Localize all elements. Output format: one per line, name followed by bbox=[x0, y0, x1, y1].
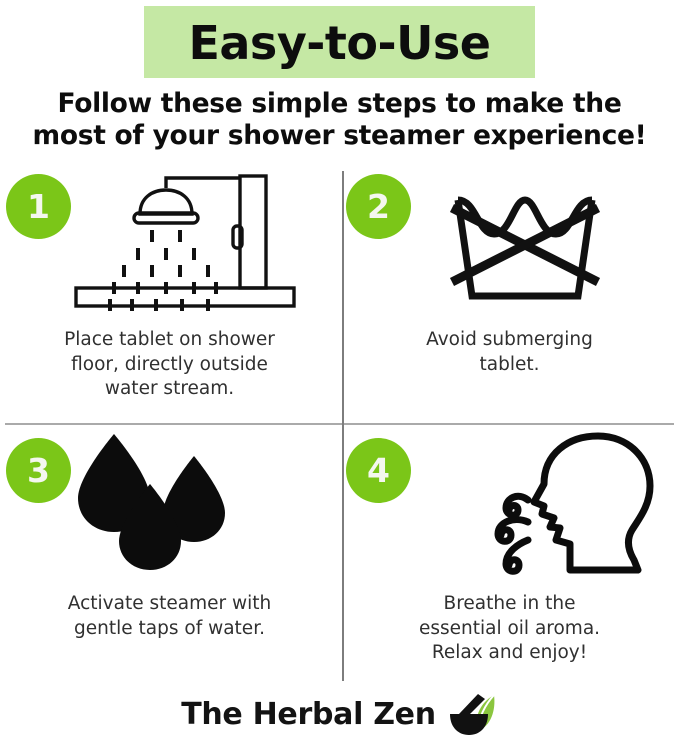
step-caption-3-line-2: gentle taps of water. bbox=[10, 617, 329, 642]
step-card-2: 2 Avoid submerging bbox=[340, 160, 679, 422]
step-card-4: 4 Breathe in the essential oil aroma. bbox=[340, 424, 679, 686]
step-caption-3: Activate steamer with gentle taps of wat… bbox=[10, 592, 329, 641]
step-number-badge-4: 4 bbox=[346, 438, 411, 503]
step-caption-3-line-1: Activate steamer with bbox=[10, 592, 329, 617]
step-caption-2-line-2: tablet. bbox=[350, 353, 669, 378]
step-caption-1: Place tablet on shower floor, directly o… bbox=[10, 328, 329, 402]
step-caption-2: Avoid submerging tablet. bbox=[350, 328, 669, 377]
subtitle-line-1: Follow these simple steps to make the bbox=[14, 88, 665, 120]
shower-icon bbox=[70, 164, 332, 324]
subtitle: Follow these simple steps to make the mo… bbox=[0, 88, 679, 153]
step-caption-4-line-3: Relax and enjoy! bbox=[350, 641, 669, 666]
subtitle-line-2: most of your shower steamer experience! bbox=[14, 120, 665, 152]
title-container: Easy-to-Use bbox=[0, 0, 679, 78]
step-number-badge-3: 3 bbox=[6, 438, 71, 503]
step-caption-4-line-1: Breathe in the bbox=[350, 592, 669, 617]
step-caption-2-line-1: Avoid submerging bbox=[350, 328, 669, 353]
header: Easy-to-Use Follow these simple steps to… bbox=[0, 0, 679, 153]
water-droplets-icon bbox=[70, 428, 332, 588]
easy-to-use-infographic: Easy-to-Use Follow these simple steps to… bbox=[0, 0, 679, 748]
step-caption-1-line-1: Place tablet on shower bbox=[10, 328, 329, 353]
step-caption-1-line-3: water stream. bbox=[10, 377, 329, 402]
step-caption-4: Breathe in the essential oil aroma. Rela… bbox=[350, 592, 669, 666]
step-number-badge-2: 2 bbox=[346, 174, 411, 239]
breathing-head-icon bbox=[410, 428, 672, 588]
footer-logo: The Herbal Zen bbox=[0, 692, 679, 736]
steps-grid: 1 bbox=[0, 160, 679, 685]
brand-name: The Herbal Zen bbox=[181, 697, 436, 732]
no-submerge-basin-icon bbox=[410, 164, 672, 324]
step-card-3: 3 Activate steamer with gentle taps of w… bbox=[0, 424, 339, 686]
step-card-1: 1 bbox=[0, 160, 339, 422]
page-title: Easy-to-Use bbox=[144, 6, 534, 78]
mortar-and-pestle-leaf-icon bbox=[444, 692, 498, 736]
step-caption-4-line-2: essential oil aroma. bbox=[350, 617, 669, 642]
step-caption-1-line-2: floor, directly outside bbox=[10, 353, 329, 378]
step-number-badge-1: 1 bbox=[6, 174, 71, 239]
